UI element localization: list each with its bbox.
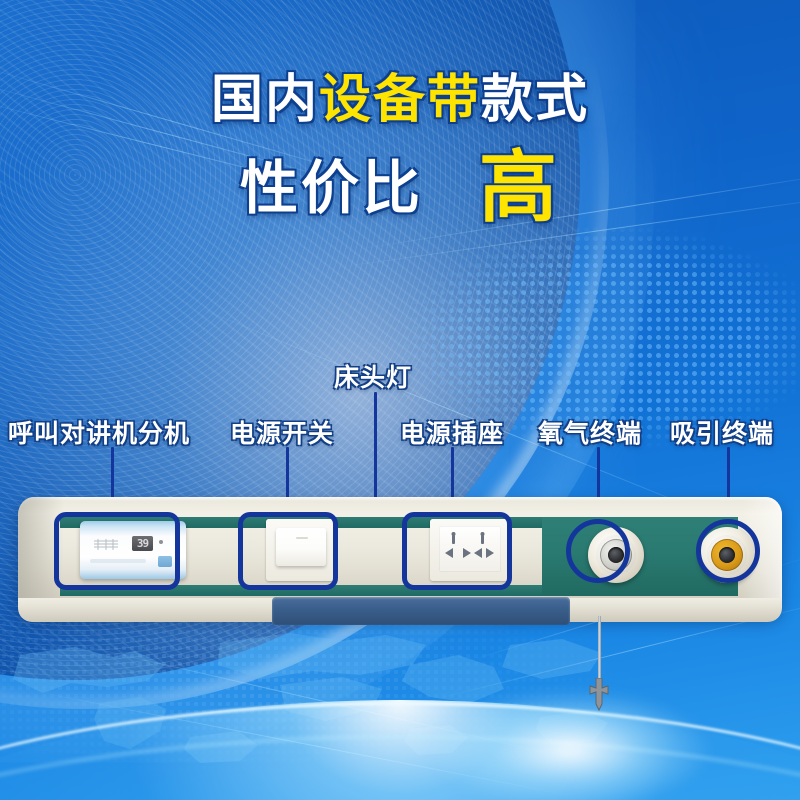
label-power-socket: 电源插座 [400,414,504,450]
callout-box-intercom [54,512,180,590]
label-intercom: 呼叫对讲机分机 [8,414,190,450]
callout-box-power-socket [402,512,512,590]
callout-circle-suction [696,519,760,583]
horizon-arc-line-secondary [0,736,800,800]
headline-part-style: 款式 [481,71,589,129]
horizon-glow [0,700,800,800]
unit-lower-rail-dark-section [272,597,570,625]
world-map-silhouette [0,625,680,795]
pull-cord-handle-icon[interactable] [584,678,614,712]
label-oxygen-terminal: 氧气终端 [538,414,642,450]
label-suction-terminal: 吸引终端 [670,414,774,450]
label-bed-light: 床头灯 [334,358,412,394]
headline-line-1: 国内设备带款式 [0,74,800,126]
headline-part-value-ratio: 性价比 [240,156,423,221]
headline-line-2: 性价比高 [0,148,800,226]
callout-box-power-switch [238,512,338,590]
callout-circle-oxygen [566,519,630,583]
horizon-arc-line [0,702,800,800]
headline-part-domestic: 国内 [211,71,319,129]
promo-image-stage: 国内设备带款式 性价比高 呼叫对讲机分机 电源开关 床头灯 电源插座 氧气终端 … [0,0,800,800]
label-power-switch: 电源开关 [230,414,334,450]
halftone-dot-map-lower [0,620,800,800]
horizon-light-burst [430,690,710,800]
headline-part-equipment-belt: 设备带 [319,71,481,129]
headline-part-high: 高 [479,143,560,231]
headline-block: 国内设备带款式 性价比高 [0,74,800,226]
